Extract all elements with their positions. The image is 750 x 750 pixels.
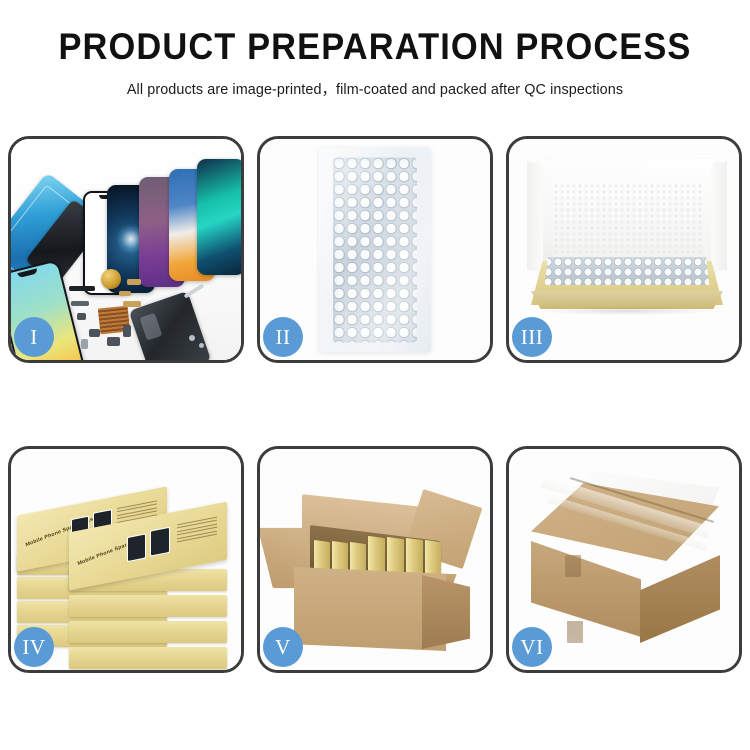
header: PRODUCT PREPARATION PROCESS All products… [0,0,750,99]
kraft-box-fr-2 [69,595,227,617]
phone-screen-teal [197,159,241,275]
flex-cable-3 [123,301,141,307]
kraft-box-fr-3 [69,621,227,643]
box-art-screen-f2 [150,527,170,557]
small-chip-3 [107,337,120,346]
kraft-box-fr-4 [69,647,227,669]
step-iv-image: Mobile Phone Spare Parts Mobile [11,449,241,670]
screw-1 [189,335,195,341]
coil-part [101,269,121,289]
carton-front-face [531,541,641,637]
carton-side-face [640,555,720,643]
screw-2 [199,343,204,348]
flex-cable-1 [127,279,141,285]
step-numeral-v: V [275,635,291,660]
step-i-image: I [11,139,241,360]
step-v-image: V [260,449,490,670]
box-checklist-front [177,517,217,545]
step-ii-image: II [260,139,490,360]
flex-cable-4 [71,301,89,306]
foam-sheet [553,183,703,265]
step-panel-ii[interactable]: II [257,136,493,363]
bubble-wrap-pouch [319,147,431,352]
step-numeral-vi: VI [520,635,543,660]
step-panel-iii[interactable]: III [506,136,742,363]
step-badge-i: I [14,317,54,357]
box-art-screen-f1 [127,533,146,562]
product-preparation-infographic: PRODUCT PREPARATION PROCESS All products… [0,0,750,750]
step-vi-image: VI [509,449,739,670]
steps-grid: I II [8,136,742,673]
small-chip-1 [77,313,86,320]
step-iii-image: III [509,139,739,360]
connector-strip [69,286,95,291]
bubble-wrapped-contents [543,257,711,285]
plastic-sheen [319,147,431,352]
page-title: PRODUCT PREPARATION PROCESS [26,28,724,67]
step-badge-ii: II [263,317,303,357]
step-panel-iv[interactable]: Mobile Phone Spare Parts Mobile [8,446,244,673]
carton-hand-hole-bottom [567,621,583,643]
step-badge-iv: IV [14,627,54,667]
page-subtitle: All products are image-printed，film-coat… [6,78,745,99]
small-chip-5 [81,339,88,349]
carton-body-side [422,575,470,649]
step-badge-v: V [263,627,303,667]
small-chip-2 [89,329,100,337]
carton-hand-hole-top [565,555,581,577]
flex-cable-2 [119,291,131,296]
step-numeral-iii: III [521,325,543,350]
step-numeral-iv: IV [22,635,45,660]
step-numeral-i: I [30,325,38,350]
step-panel-i[interactable]: I [8,136,244,363]
step-panel-vi[interactable]: VI [506,446,742,673]
step-numeral-ii: II [276,325,291,350]
step-badge-vi: VI [512,627,552,667]
small-chip-4 [123,325,131,337]
tray-shadow [539,307,715,315]
step-badge-iii: III [512,317,552,357]
step-panel-v[interactable]: V [257,446,493,673]
